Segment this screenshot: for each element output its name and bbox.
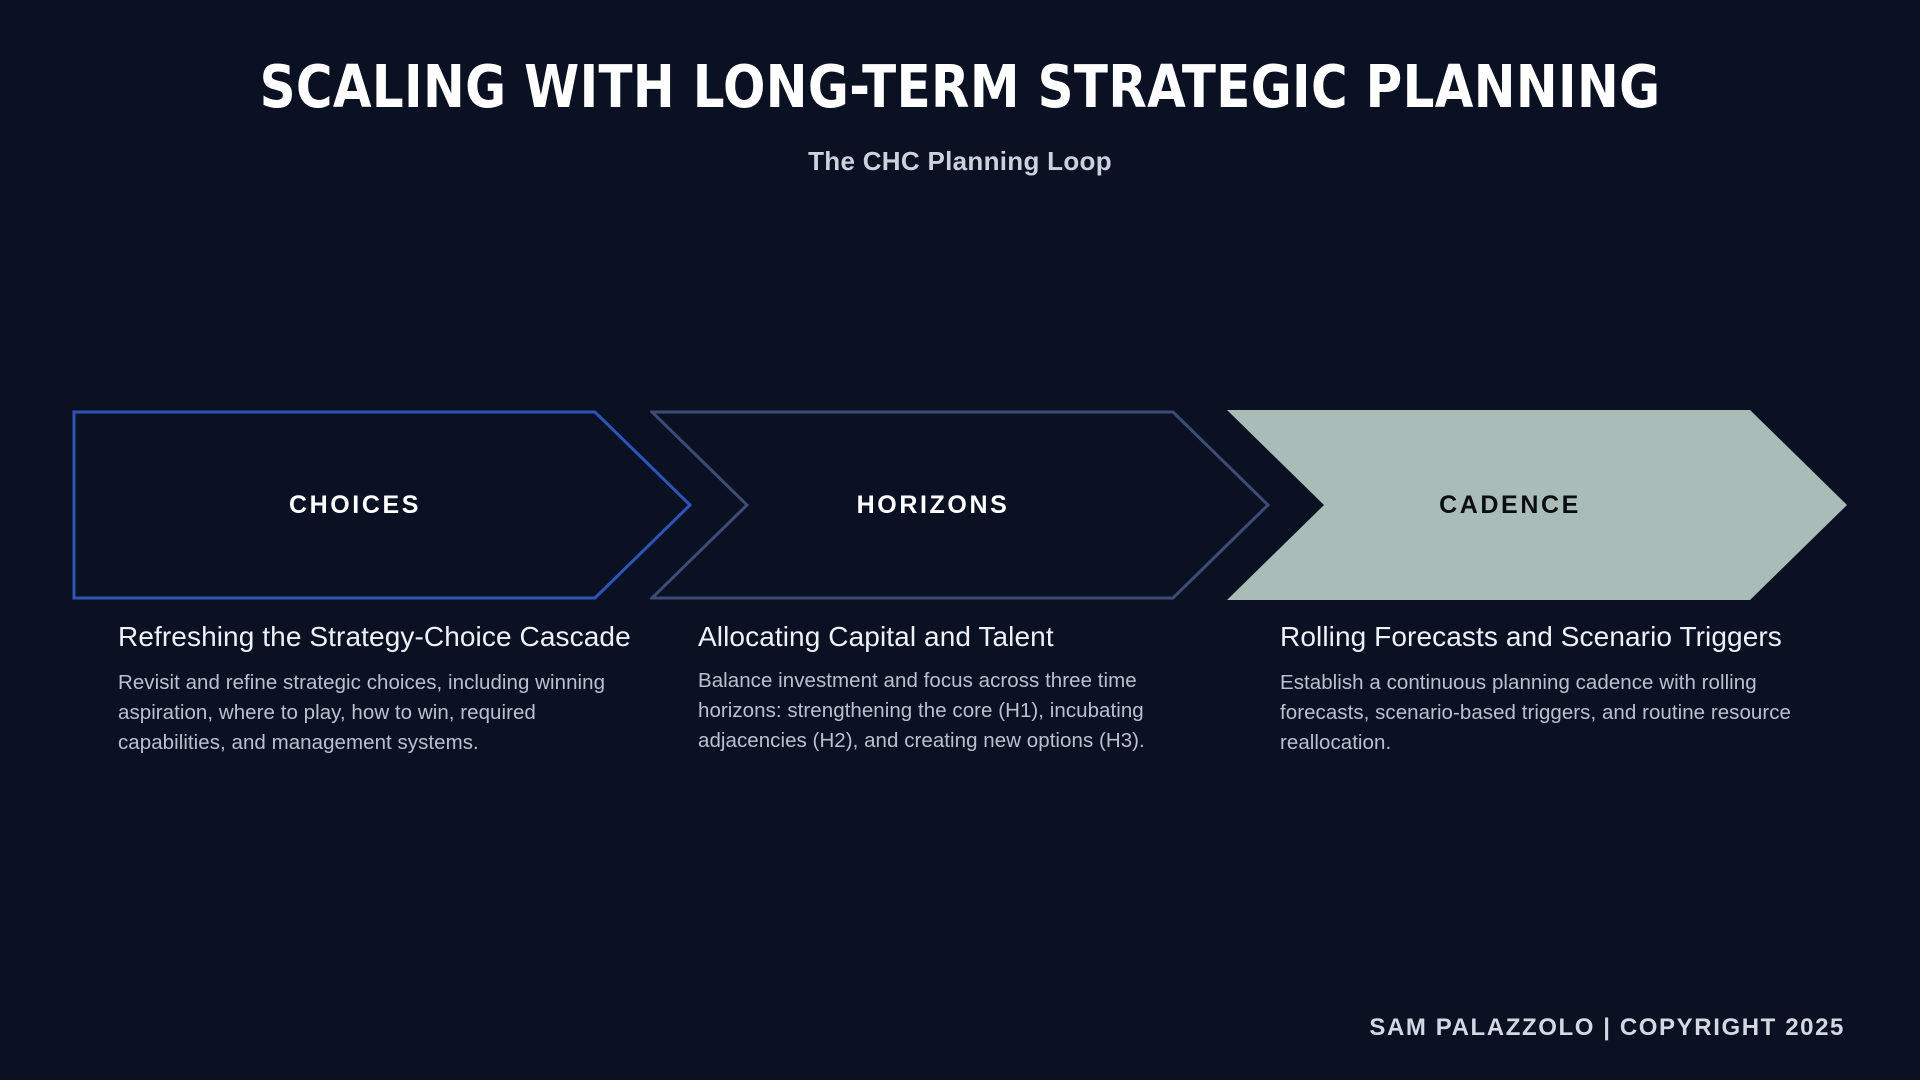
page-subtitle: The CHC Planning Loop <box>0 117 1920 177</box>
stage-description-heading: Allocating Capital and Talent <box>698 620 1218 654</box>
stage-description-cadence: Rolling Forecasts and Scenario Triggers … <box>1280 620 1800 758</box>
stage-description-body: Balance investment and focus across thre… <box>698 666 1218 756</box>
page-title: SCALING WITH LONG-TERM STRATEGIC PLANNIN… <box>58 0 1863 117</box>
process-stage-cadence[interactable]: CADENCE <box>1227 410 1847 600</box>
process-stage-label: CADENCE <box>1439 491 1581 520</box>
copyright-credit: SAM PALAZZOLO | COPYRIGHT 2025 <box>1369 1014 1845 1042</box>
stage-descriptions: Refreshing the Strategy-Choice Cascade R… <box>0 620 1920 900</box>
process-stage-label: CHOICES <box>289 491 421 520</box>
process-stage-horizons[interactable]: HORIZONS <box>650 410 1270 600</box>
stage-description-horizons: Allocating Capital and Talent Balance in… <box>698 620 1218 756</box>
process-band: CHOICES HORIZONS CADENCE <box>72 410 1847 600</box>
stage-description-heading: Refreshing the Strategy-Choice Cascade <box>118 620 638 654</box>
process-stage-choices[interactable]: CHOICES <box>72 410 692 600</box>
stage-description-body: Revisit and refine strategic choices, in… <box>118 668 638 758</box>
stage-description-heading: Rolling Forecasts and Scenario Triggers <box>1280 620 1800 654</box>
slide-header: SCALING WITH LONG-TERM STRATEGIC PLANNIN… <box>0 0 1920 177</box>
process-stage-label: HORIZONS <box>857 491 1010 520</box>
stage-description-choices: Refreshing the Strategy-Choice Cascade R… <box>118 620 638 758</box>
stage-description-body: Establish a continuous planning cadence … <box>1280 668 1800 758</box>
